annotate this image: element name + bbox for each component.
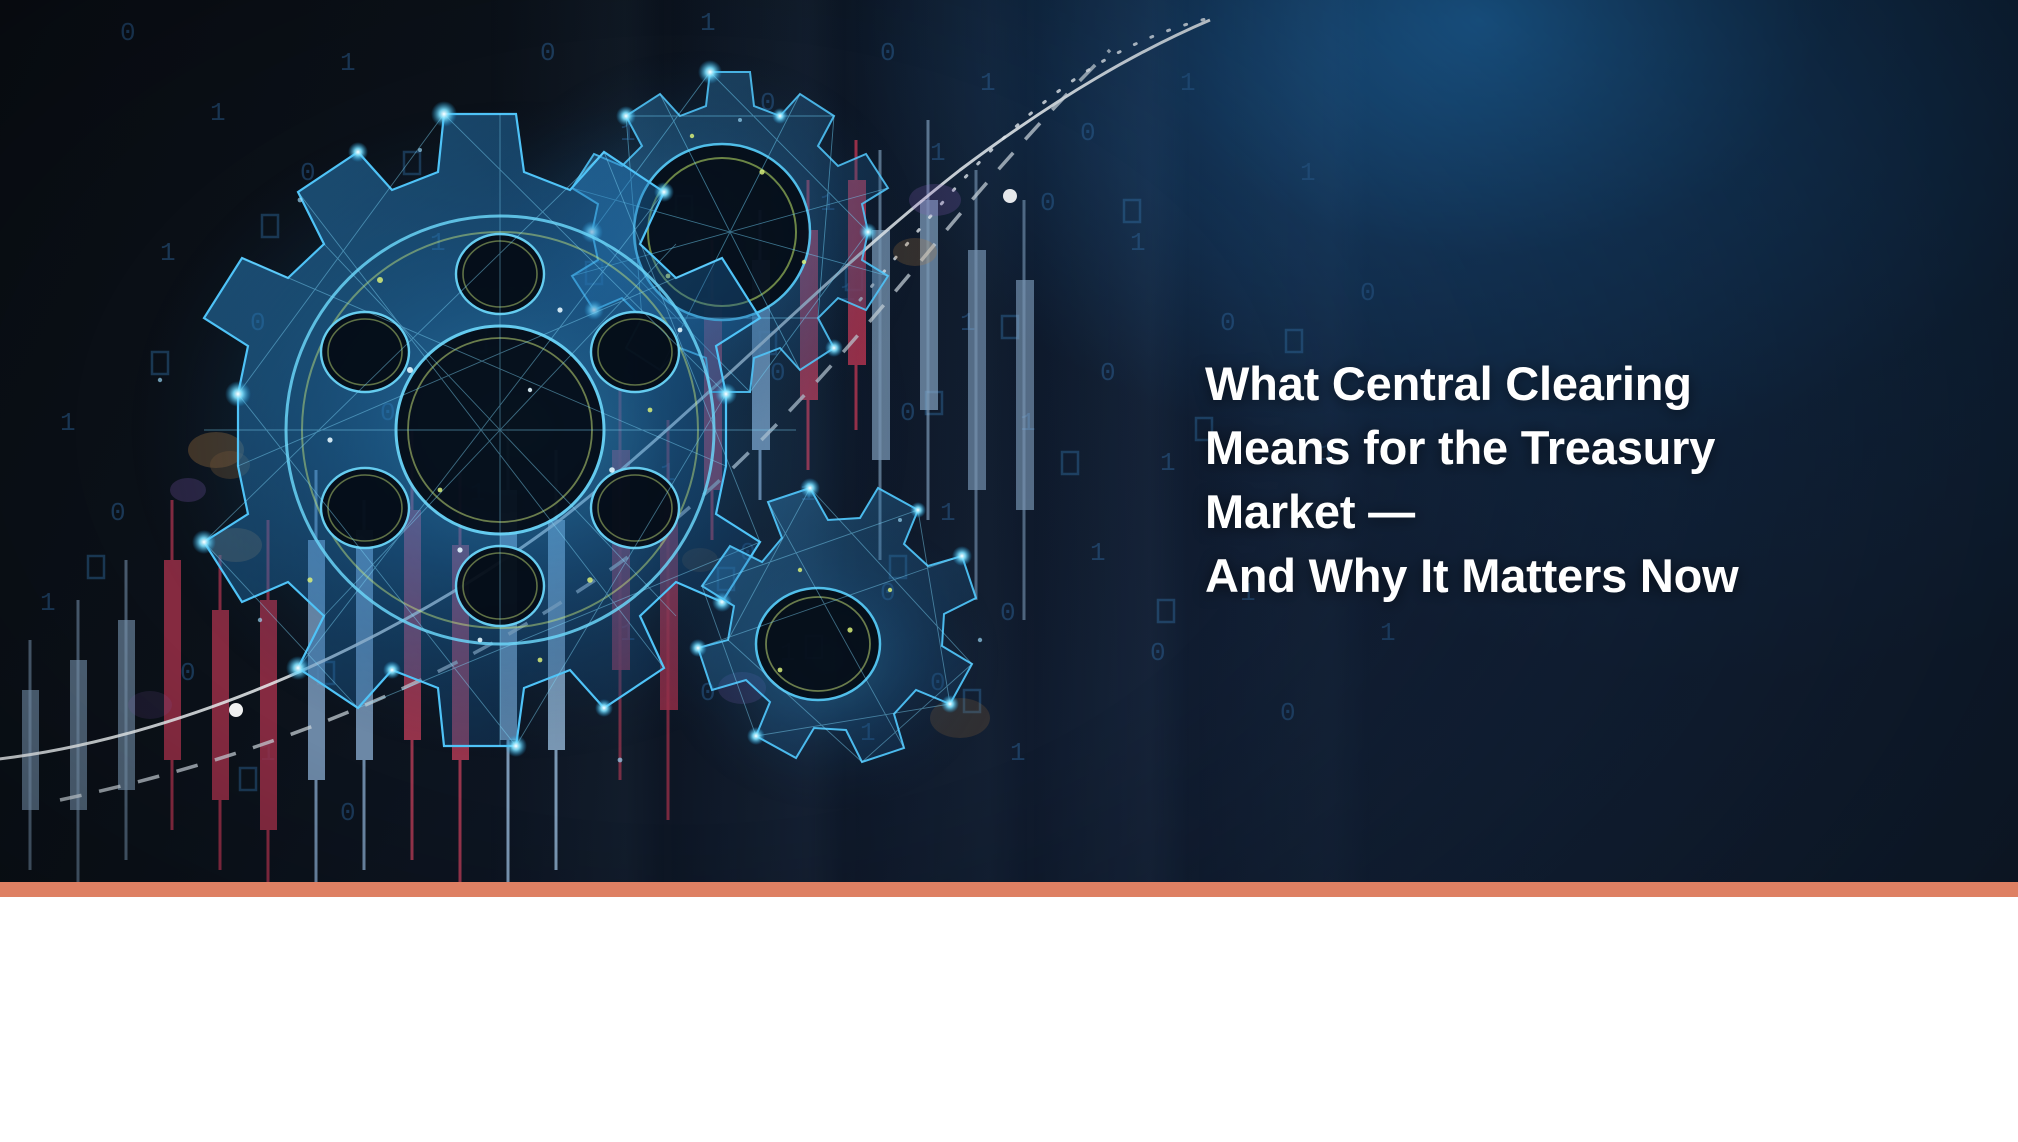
hero-artwork-panel: 011 100 101 011 010 110 101 011 101 010 … [0, 0, 2018, 882]
orange-divider-rule [0, 882, 2018, 897]
headline-line-1: What Central Clearing [1205, 352, 1965, 416]
page-title: What Central Clearing Means for the Trea… [1205, 352, 1965, 608]
headline-line-2: Means for the Treasury [1205, 416, 1965, 480]
title-slide: 011 100 101 011 010 110 101 011 101 010 … [0, 0, 2018, 1142]
footer-panel: MIRAE ASSET Securities [0, 897, 2018, 1142]
headline-line-4: And Why It Matters Now [1205, 544, 1965, 608]
headline-line-3: Market — [1205, 480, 1965, 544]
